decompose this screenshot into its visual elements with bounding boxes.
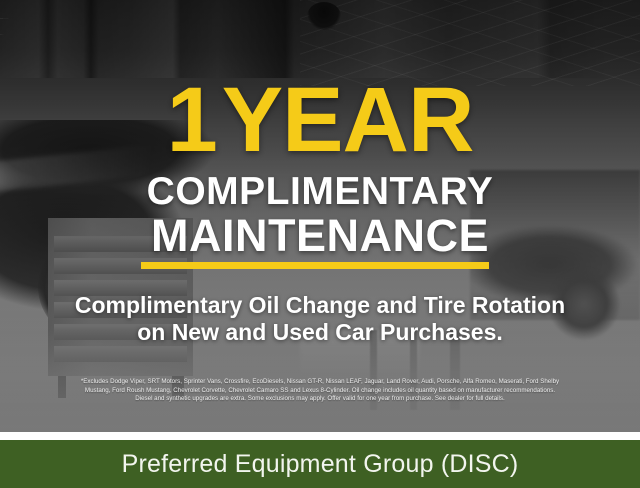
headline-year-number: 1 xyxy=(167,69,222,171)
headline-year-word: YEAR xyxy=(222,69,474,171)
offer-headline-line1: Complimentary Oil Change and Tire Rotati… xyxy=(0,292,640,319)
subtitle-maintenance: MAINTENANCE xyxy=(0,213,640,259)
footer-bar: Preferred Equipment Group (DISC) xyxy=(0,440,640,488)
disclaimer-line-2: Mustang, Ford Roush Mustang, Chevrolet C… xyxy=(10,387,630,396)
white-separator xyxy=(0,432,640,440)
subtitle-complimentary: COMPLIMENTARY xyxy=(0,172,640,212)
yellow-divider-rule xyxy=(141,262,489,269)
offer-headline: Complimentary Oil Change and Tire Rotati… xyxy=(0,292,640,346)
disclaimer-fine-print: *Excludes Dodge Viper, SRT Motors, Sprin… xyxy=(10,378,630,404)
offer-headline-line2: on New and Used Car Purchases. xyxy=(0,319,640,346)
disclaimer-line-3: Diesel and synthetic upgrades are extra.… xyxy=(10,395,630,404)
headline-year: 1YEAR xyxy=(0,72,640,168)
disclaimer-line-1: *Excludes Dodge Viper, SRT Motors, Sprin… xyxy=(10,378,630,387)
promo-banner: 1YEAR COMPLIMENTARY MAINTENANCE Complime… xyxy=(0,0,640,488)
footer-label: Preferred Equipment Group (DISC) xyxy=(122,450,519,478)
promo-content: 1YEAR COMPLIMENTARY MAINTENANCE Complime… xyxy=(0,0,640,432)
